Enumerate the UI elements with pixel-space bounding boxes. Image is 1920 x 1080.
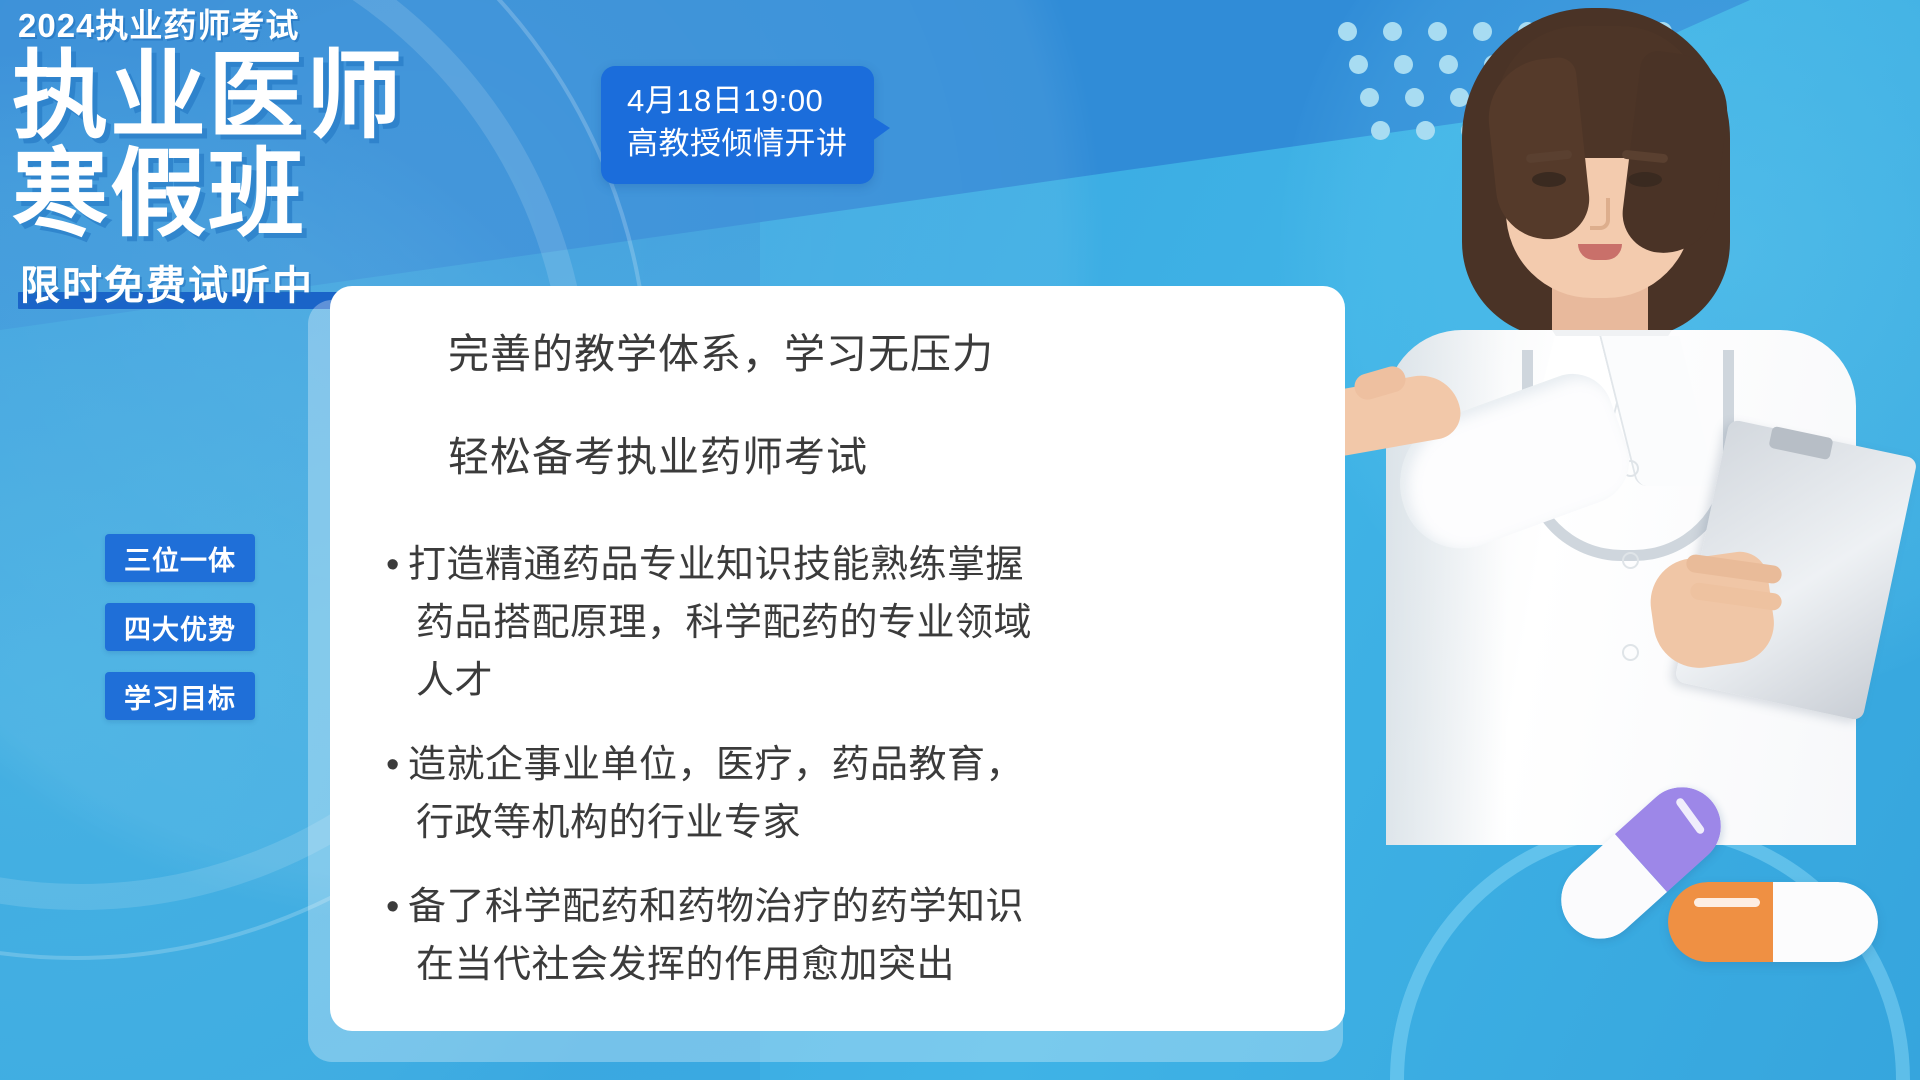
card-heading-1: 完善的教学体系，学习无压力 [448,334,1289,375]
side-button-2[interactable]: 四大优势 [105,603,255,651]
list-item: •打造精通药品专业知识技能熟练掌握药品搭配原理，科学配药的专业领域人才 [386,536,1289,710]
list-item-line: 行政等机构的行业专家 [408,794,1289,852]
list-item-line: 人才 [408,652,1289,710]
list-item-line: 备了科学配药和药物治疗的药学知识 [408,878,1289,936]
subline-wrapper: 限时免费试听中 [10,253,360,311]
bullet-list: •打造精通药品专业知识技能熟练掌握药品搭配原理，科学配药的专业领域人才•造就企事… [386,536,1289,994]
card-heading-2: 轻松备考执业药师考试 [448,437,1289,478]
list-item: •造就企事业单位，医疗，药品教育，行政等机构的行业专家 [386,736,1289,852]
side-button-label: 三位一体 [124,539,236,578]
list-item-line: 在当代社会发挥的作用愈加突出 [408,936,1289,994]
list-item-text: 备了科学配药和药物治疗的药学知识在当代社会发挥的作用愈加突出 [408,878,1289,994]
list-item-text: 打造精通药品专业知识技能熟练掌握药品搭配原理，科学配药的专业领域人才 [408,536,1289,710]
side-button-3[interactable]: 学习目标 [105,672,255,720]
list-item-line: 造就企事业单位，医疗，药品教育， [408,736,1289,794]
title-line-2: 寒假班 [12,146,530,244]
female-doctor-photo [1300,0,1920,845]
side-button-group: 三位一体四大优势学习目标 [105,534,255,720]
title-line-1: 执业医师 [12,43,404,150]
bullet-dot-icon: • [386,536,408,594]
page-title: 执业医师 寒假班 [10,48,530,244]
bubble-tail-icon [868,114,890,144]
bullet-dot-icon: • [386,878,408,936]
bullet-dot-icon: • [386,736,408,794]
list-item-line: 药品搭配原理，科学配药的专业领域 [408,594,1289,652]
subline-text: 限时免费试听中 [20,253,360,311]
list-item: •备了科学配药和药物治疗的药学知识在当代社会发挥的作用愈加突出 [386,878,1289,994]
side-button-1[interactable]: 三位一体 [105,534,255,582]
promo-bubble[interactable]: 4月18日19:00 高教授倾情开讲 [601,66,874,184]
list-item-line: 打造精通药品专业知识技能熟练掌握 [408,536,1289,594]
headline-block: 2024执业药师考试 执业医师 寒假班 限时免费试听中 [10,6,530,311]
side-button-label: 学习目标 [124,677,236,716]
promo-banner: 2024执业药师考试 执业医师 寒假班 限时免费试听中 4月18日19:00 高… [0,0,1920,1080]
capsule-orange-icon [1668,882,1878,962]
side-button-label: 四大优势 [124,608,236,647]
list-item-text: 造就企事业单位，医疗，药品教育，行政等机构的行业专家 [408,736,1289,852]
promo-bubble-datetime: 4月18日19:00 [627,80,848,123]
content-card: 完善的教学体系，学习无压力 轻松备考执业药师考试 •打造精通药品专业知识技能熟练… [330,286,1345,1031]
promo-bubble-speaker: 高教授倾情开讲 [627,123,848,166]
kicker-text: 2024执业药师考试 [10,6,530,46]
